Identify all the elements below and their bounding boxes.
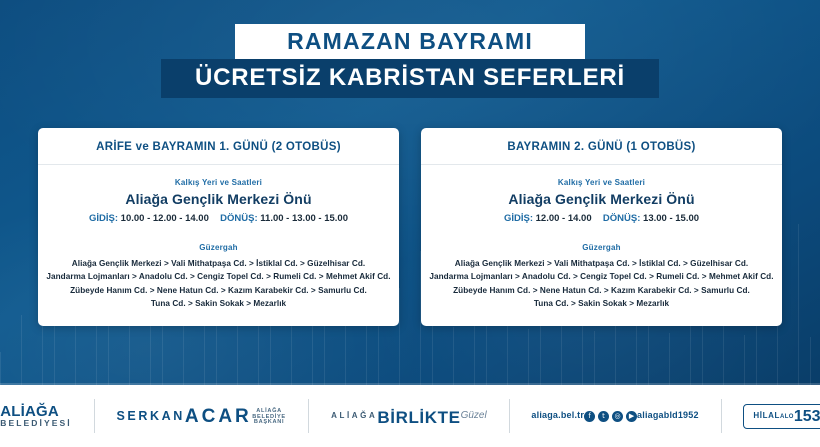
mayor-block: SERKAN ACAR ALİAĞA BELEDİYE BAŞKANI (116, 406, 286, 426)
slogan-line3: Güzel (461, 411, 487, 421)
route-line: Jandarma Lojmanları > Anadolu Cd. > Ceng… (38, 270, 399, 283)
gidis-label: GİDİŞ: (89, 213, 118, 224)
municipality-name: ALİAĞA (0, 404, 72, 420)
route-lines: Aliağa Gençlik Merkezi > Vali Mithatpaşa… (421, 257, 782, 310)
footer-separator (509, 399, 510, 433)
slogan-block: ALİAĞA BİRLİKTE Güzel (331, 407, 487, 426)
instagram-icon[interactable]: ◎ (612, 411, 623, 422)
title-block: RAMAZAN BAYRAMI ÜCRETSİZ KABRİSTAN SEFER… (0, 24, 820, 98)
schedule-cards: ARİFE ve BAYRAMIN 1. GÜNÜ (2 OTOBÜS) Kal… (38, 128, 782, 326)
gidis-times: 10.00 - 12.00 - 14.00 (121, 213, 209, 224)
footer-separator (308, 399, 309, 433)
twitter-icon[interactable]: t (598, 411, 609, 422)
title-primary: RAMAZAN BAYRAMI (235, 24, 585, 60)
departure-place: Aliağa Gençlik Merkezi Önü (38, 191, 399, 207)
route-label: Güzergah (38, 243, 399, 252)
route-line: Aliağa Gençlik Merkezi > Vali Mithatpaşa… (38, 257, 399, 270)
youtube-icon[interactable]: ▶ (626, 411, 637, 422)
gidis-label: GİDİŞ: (504, 213, 533, 224)
mayor-last-name: ACAR (185, 407, 252, 426)
mayor-first-name: SERKAN (116, 410, 184, 423)
social-block: aliaga.bel.tr f t ◎ ▶ aliagabld1952 (531, 409, 698, 424)
card-heading: BAYRAMIN 2. GÜNÜ (1 OTOBÜS) (421, 128, 782, 165)
schedule-card: BAYRAMIN 2. GÜNÜ (1 OTOBÜS) Kalkış Yeri … (421, 128, 782, 326)
poster: RAMAZAN BAYRAMI ÜCRETSİZ KABRİSTAN SEFER… (0, 0, 820, 447)
slogan-line2: BİRLİKTE (377, 409, 460, 426)
facebook-icon[interactable]: f (584, 411, 595, 422)
route-line: Zübeyde Hanım Cd. > Nene Hatun Cd. > Kaz… (421, 284, 782, 297)
hotline-line1: HİLAL (753, 412, 780, 420)
slogan-line1: ALİAĞA (331, 412, 377, 420)
footer-separator (94, 399, 95, 433)
route-label: Güzergah (421, 243, 782, 252)
hotline-number: 153 (794, 409, 820, 425)
hotline-block: HİLAL ALO 153 ÇAĞRI MERKEZİ (743, 404, 820, 429)
donus-label: DÖNÜŞ: (603, 213, 640, 224)
departure-label: Kalkış Yeri ve Saatleri (38, 178, 399, 187)
footer-separator (721, 399, 722, 433)
hotline-line2: ALO (780, 414, 794, 420)
schedule-card: ARİFE ve BAYRAMIN 1. GÜNÜ (2 OTOBÜS) Kal… (38, 128, 399, 326)
website-link[interactable]: aliaga.bel.tr (531, 410, 584, 421)
mayor-role: ALİAĞA BELEDİYE BAŞKANI (252, 409, 287, 426)
donus-times: 11.00 - 13.00 - 15.00 (260, 213, 348, 224)
card-heading: ARİFE ve BAYRAMIN 1. GÜNÜ (2 OTOBÜS) (38, 128, 399, 165)
social-icons: f t ◎ ▶ (584, 411, 637, 422)
gidis-times: 12.00 - 14.00 (536, 213, 592, 224)
donus-times: 13.00 - 15.00 (643, 213, 699, 224)
route-line: Tuna Cd. > Sakin Sokak > Mezarlık (421, 297, 782, 310)
departure-label: Kalkış Yeri ve Saatleri (421, 178, 782, 187)
departure-times: GİDİŞ: 10.00 - 12.00 - 14.00 DÖNÜŞ: 11.0… (38, 213, 399, 224)
donus-label: DÖNÜŞ: (220, 213, 257, 224)
route-line: Aliağa Gençlik Merkezi > Vali Mithatpaşa… (421, 257, 782, 270)
title-secondary: ÜCRETSİZ KABRİSTAN SEFERLERİ (161, 59, 659, 98)
departure-times: GİDİŞ: 12.00 - 14.00 DÖNÜŞ: 13.00 - 15.0… (421, 213, 782, 224)
footer: ALİAĞA BELEDİYESİ SERKAN ACAR ALİAĞA BEL… (0, 385, 820, 447)
route-line: Jandarma Lojmanları > Anadolu Cd. > Ceng… (421, 270, 782, 283)
route-lines: Aliağa Gençlik Merkezi > Vali Mithatpaşa… (38, 257, 399, 310)
route-line: Tuna Cd. > Sakin Sokak > Mezarlık (38, 297, 399, 310)
social-handle[interactable]: aliagabld1952 (637, 410, 699, 421)
municipality-sub: BELEDİYESİ (0, 419, 72, 428)
route-line: Zübeyde Hanım Cd. > Nene Hatun Cd. > Kaz… (38, 284, 399, 297)
departure-place: Aliağa Gençlik Merkezi Önü (421, 191, 782, 207)
municipality-logo: ALİAĞA BELEDİYESİ (0, 401, 72, 431)
